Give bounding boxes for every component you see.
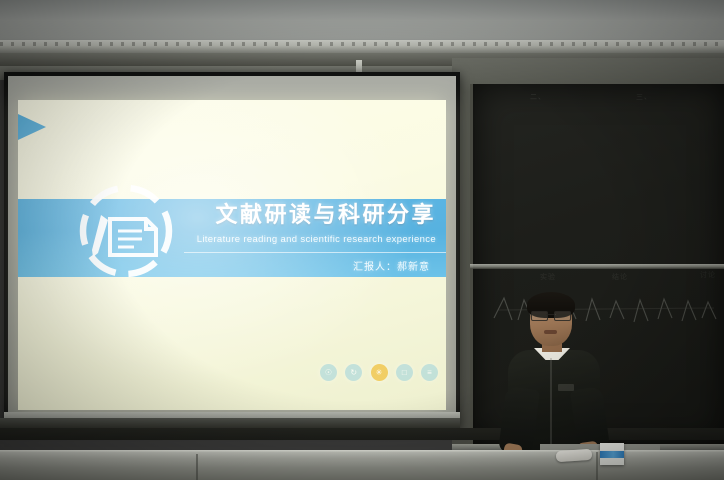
list-icon: ≡: [421, 364, 438, 381]
desk-seam: [196, 454, 198, 480]
glasses-icon: [531, 311, 571, 319]
glasses-right-lens: [554, 311, 571, 321]
jacket-logo-patch: [558, 384, 574, 391]
tissue-box: [600, 443, 624, 465]
slide-title-block: 文献研读与科研分享 Literature reading and scienti…: [168, 204, 440, 273]
desk-seam: [596, 452, 598, 480]
presenter-mouth: [544, 330, 557, 334]
jacket-zipper: [550, 358, 552, 450]
rail-texture: [0, 42, 724, 46]
slide-presenter-line: 汇报人：郝新意: [168, 258, 440, 273]
slide-title-chinese: 文献研读与科研分享: [168, 204, 440, 227]
glasses-left-lens: [531, 311, 548, 321]
blue-arrow-accent-icon: [18, 114, 46, 140]
tissue-box-band: [600, 451, 624, 458]
classroom-scene: 二、 三、 实验 结论 讨论: [0, 0, 724, 480]
weibo-icon: ☉: [320, 364, 337, 381]
slide-icon-row: ☉ ↻ ✳ □ ≡: [320, 362, 438, 382]
pen-and-document-logo-icon: [74, 179, 178, 283]
page-icon: □: [396, 364, 413, 381]
slide-subtitle-english: Literature reading and scientific resear…: [168, 234, 440, 245]
ceiling-track-rail: [0, 40, 724, 53]
star-icon: ✳: [371, 364, 388, 381]
refresh-icon: ↻: [345, 364, 362, 381]
presenter-figure: [500, 292, 620, 462]
blackboard-divider-rail: [470, 264, 724, 269]
presentation-slide: 文献研读与科研分享 Literature reading and scienti…: [18, 100, 446, 410]
